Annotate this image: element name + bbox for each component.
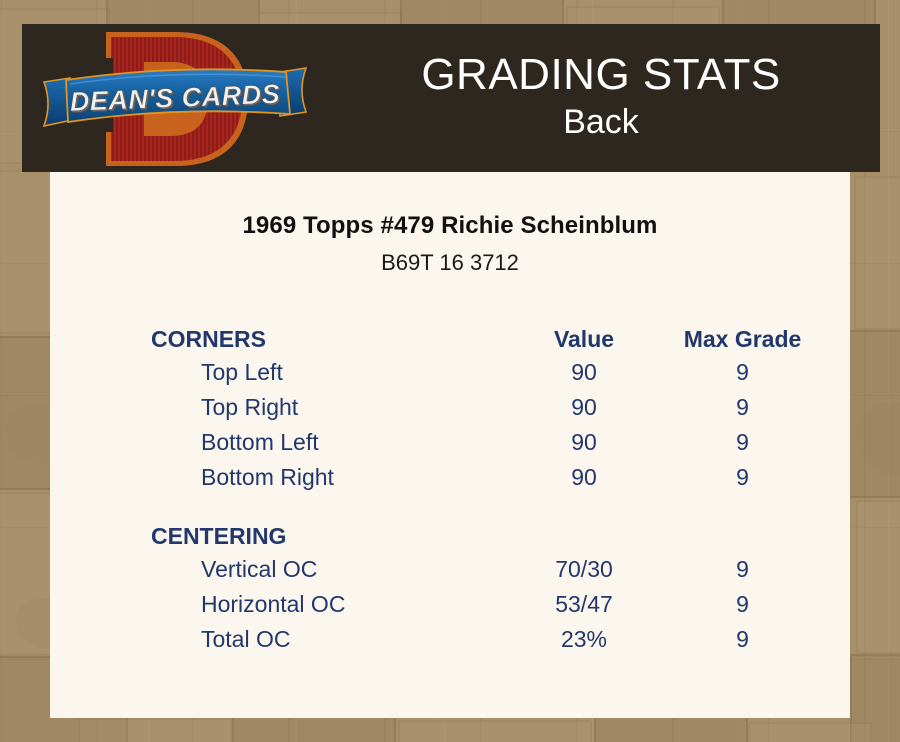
logo-ribbon-icon: DEAN'S CARDS bbox=[40, 66, 310, 130]
column-header-max-grade: Max Grade bbox=[663, 312, 822, 355]
row-label: Total OC bbox=[151, 622, 505, 657]
section-title: CENTERING bbox=[151, 509, 505, 552]
row-label: Top Left bbox=[151, 355, 505, 390]
row-max-grade: 9 bbox=[663, 390, 822, 425]
section-gap bbox=[151, 495, 822, 509]
row-max-grade: 9 bbox=[663, 587, 822, 622]
card-subtitle: B69T 16 3712 bbox=[50, 250, 850, 276]
background-card-tile bbox=[856, 500, 900, 654]
row-value: 90 bbox=[505, 390, 663, 425]
row-label: Bottom Left bbox=[151, 425, 505, 460]
grading-stats-table: CORNERSValueMax GradeTop Left909Top Righ… bbox=[151, 312, 822, 657]
row-max-grade: 9 bbox=[663, 355, 822, 390]
section-title: CORNERS bbox=[151, 312, 505, 355]
background-card-tile bbox=[854, 176, 900, 330]
row-label: Top Right bbox=[151, 390, 505, 425]
table-row: Bottom Left909 bbox=[151, 425, 822, 460]
deans-cards-logo[interactable]: DEAN'S CARDS bbox=[40, 28, 310, 170]
row-value: 53/47 bbox=[505, 587, 663, 622]
content-panel: 1969 Topps #479 Richie Scheinblum B69T 1… bbox=[50, 172, 850, 718]
table-row: Vertical OC70/309 bbox=[151, 552, 822, 587]
background-card-tile bbox=[748, 722, 872, 742]
table-row: Horizontal OC53/479 bbox=[151, 587, 822, 622]
section-header-row: CENTERING bbox=[151, 509, 822, 552]
row-max-grade: 9 bbox=[663, 622, 822, 657]
grading-stats: CORNERSValueMax GradeTop Left909Top Righ… bbox=[50, 312, 850, 657]
page-root: DEAN'S CARDS GRADING STATS Back 1969 Top… bbox=[0, 0, 900, 742]
column-header-value bbox=[505, 509, 663, 552]
table-row: Total OC23%9 bbox=[151, 622, 822, 657]
section-header-row: CORNERSValueMax Grade bbox=[151, 312, 822, 355]
table-row: Bottom Right909 bbox=[151, 460, 822, 495]
page-title: GRADING STATS bbox=[421, 52, 780, 99]
background-card-tile bbox=[232, 714, 396, 742]
table-row: Top Left909 bbox=[151, 355, 822, 390]
logo-wordmark: DEAN'S CARDS bbox=[39, 61, 311, 135]
row-max-grade: 9 bbox=[663, 460, 822, 495]
row-value: 90 bbox=[505, 425, 663, 460]
background-card-tile bbox=[594, 716, 748, 742]
row-value: 70/30 bbox=[505, 552, 663, 587]
header-bar: DEAN'S CARDS GRADING STATS Back bbox=[22, 24, 880, 172]
row-value: 23% bbox=[505, 622, 663, 657]
row-label: Vertical OC bbox=[151, 552, 505, 587]
column-header-value: Value bbox=[505, 312, 663, 355]
row-label: Bottom Right bbox=[151, 460, 505, 495]
row-max-grade: 9 bbox=[663, 552, 822, 587]
row-max-grade: 9 bbox=[663, 425, 822, 460]
column-header-max-grade bbox=[663, 509, 822, 552]
row-value: 90 bbox=[505, 355, 663, 390]
header-title-block: GRADING STATS Back bbox=[322, 24, 880, 172]
section-gap-cell bbox=[151, 495, 822, 509]
background-card-tile bbox=[398, 720, 592, 742]
row-value: 90 bbox=[505, 460, 663, 495]
row-label: Horizontal OC bbox=[151, 587, 505, 622]
table-row: Top Right909 bbox=[151, 390, 822, 425]
background-card-tile bbox=[78, 718, 232, 742]
card-title: 1969 Topps #479 Richie Scheinblum bbox=[50, 212, 850, 240]
page-subtitle: Back bbox=[563, 101, 639, 144]
